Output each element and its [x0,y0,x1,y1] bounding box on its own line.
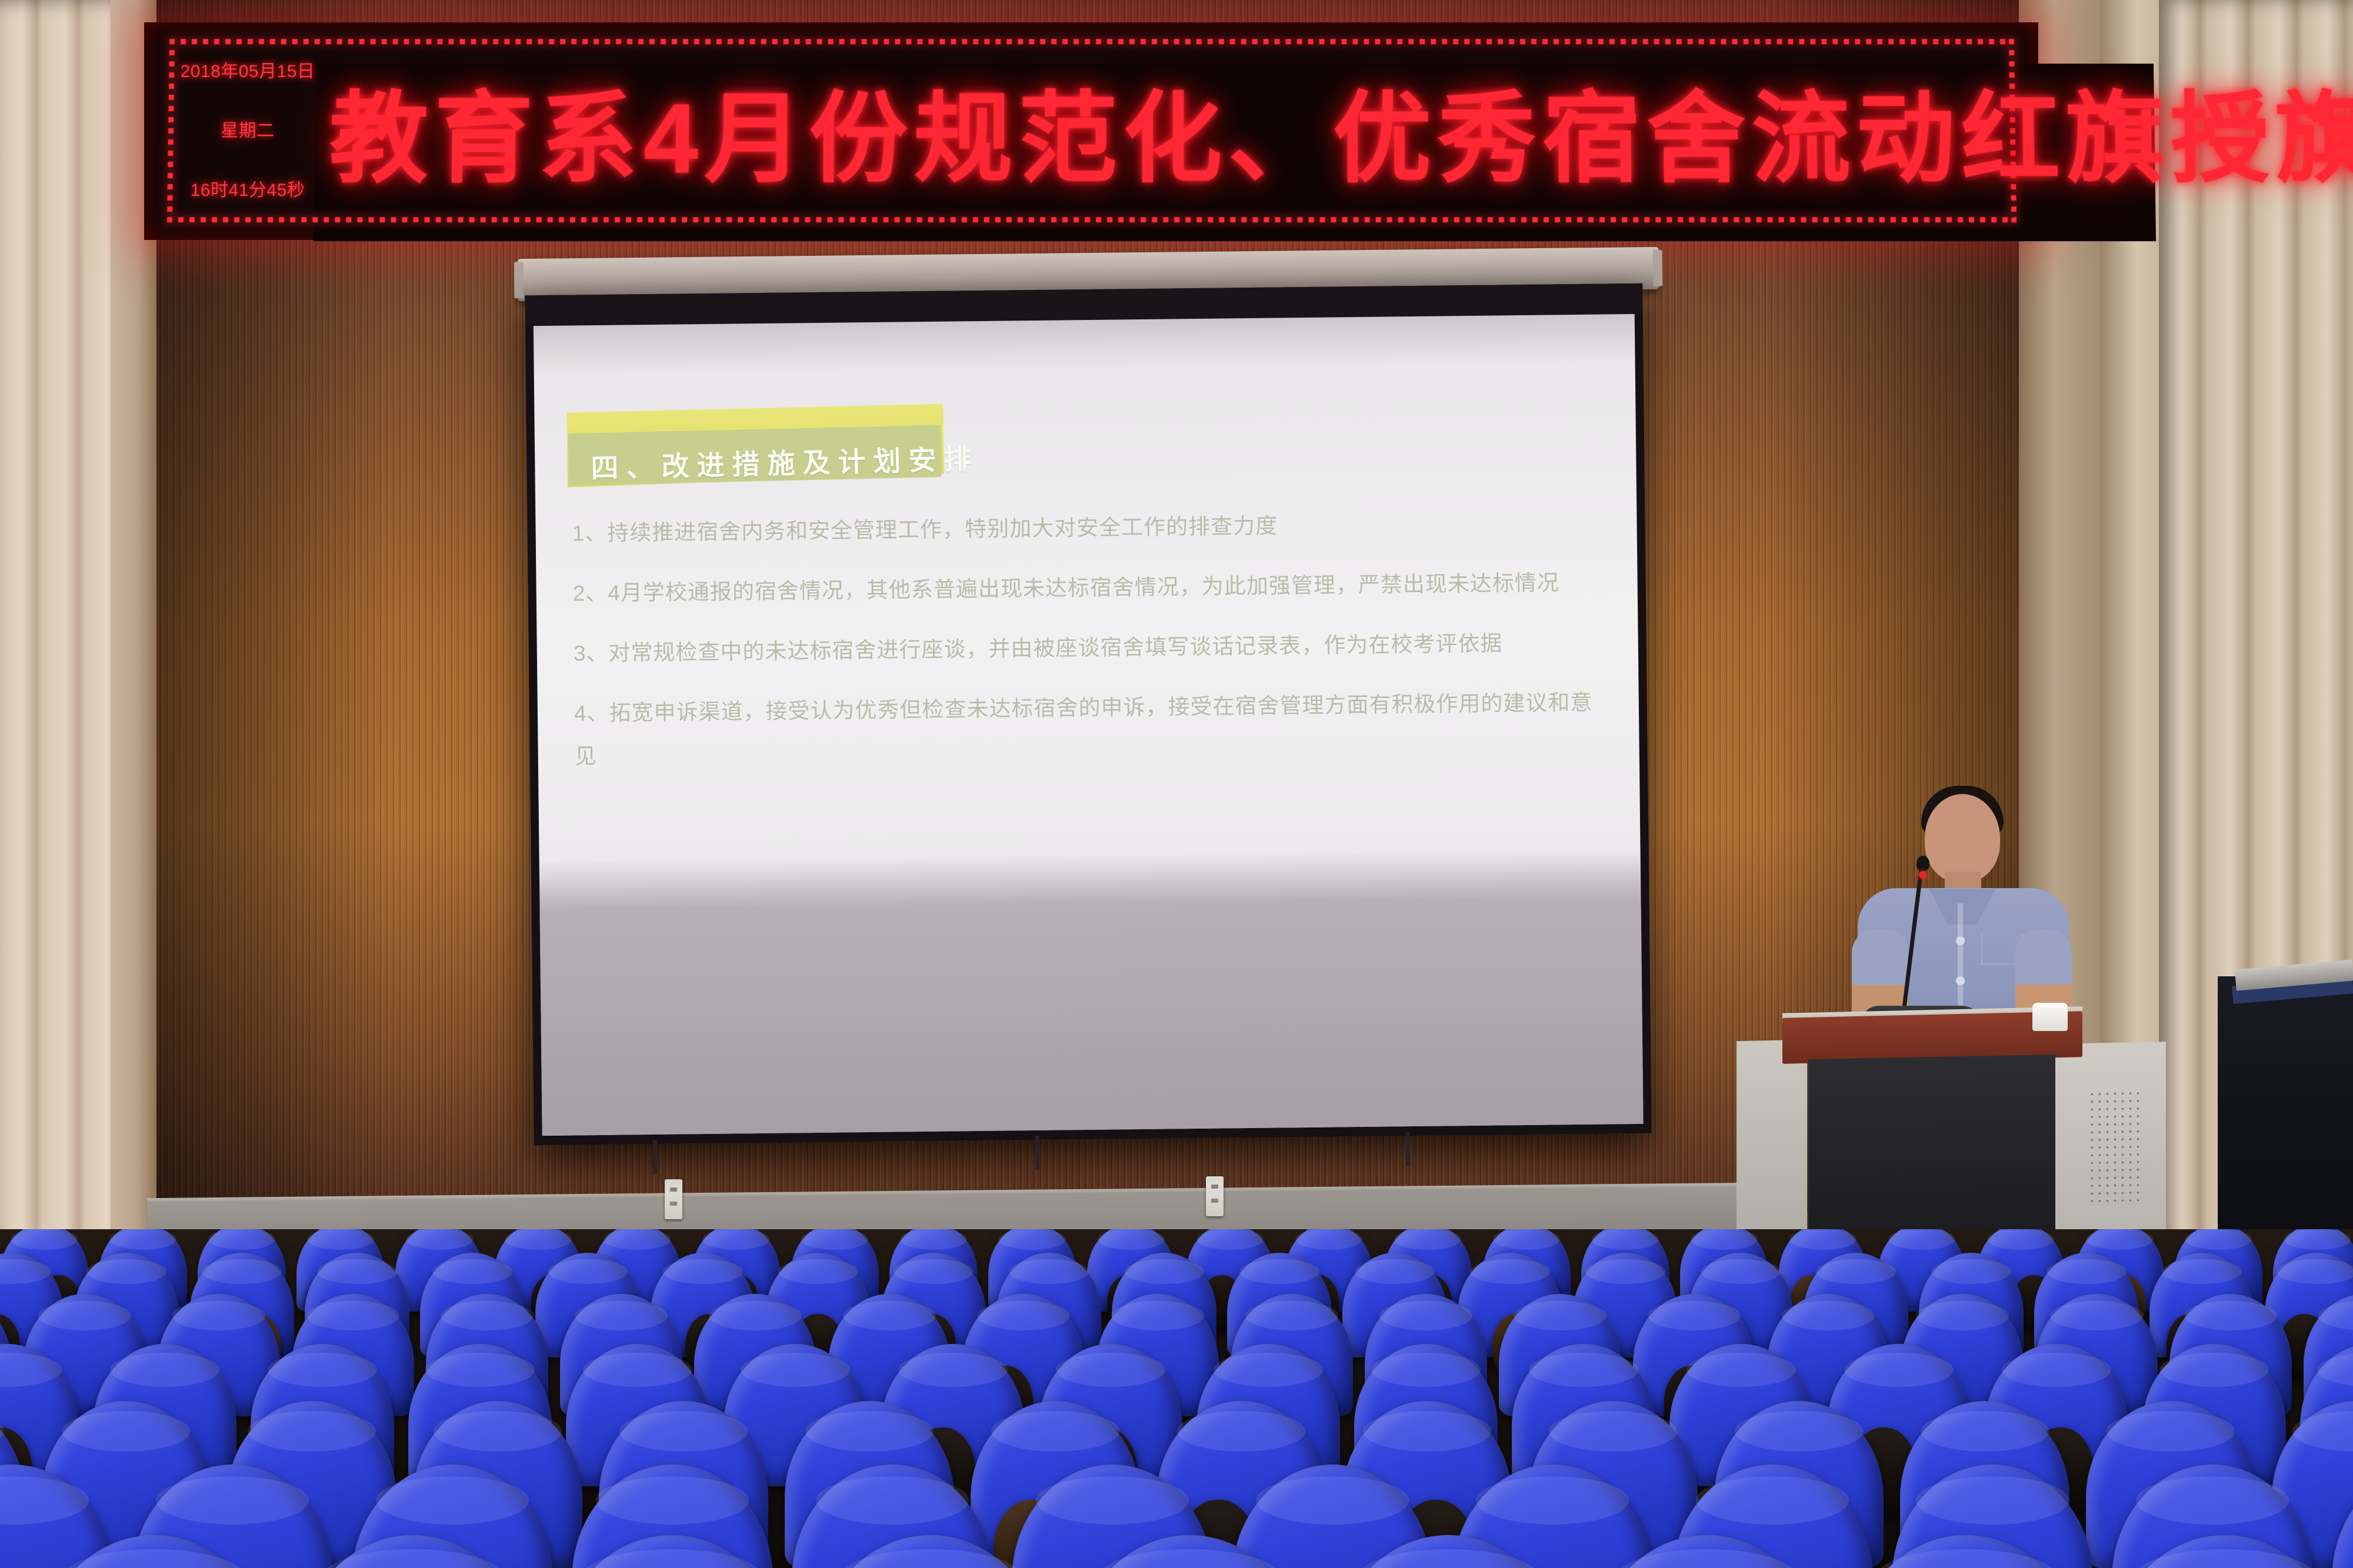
podium-front-panel [1808,1055,2055,1253]
led-clock-block: 2018年05月15日 星期二 16时41分45秒 [180,51,315,209]
slide-bullet-list: 1、持续推进宿舍内务和安全管理工作，特别加大对安全工作的排查力度 2、4月学校通… [572,502,1598,796]
led-event-title: 教育系4月份规范化、优秀宿舍流动红旗授旗仪式 [328,56,1995,203]
podium-speaker-grille [2088,1089,2145,1202]
speaker-shirt-button [1956,976,1965,985]
water-bottle [2032,1003,2068,1031]
screen-leg [1035,1136,1040,1170]
slide-bullet: 4、拓宽申诉渠道，接受认为优秀但检查未达标宿舍的申诉，接受在宿舍管理方面有积极作… [574,682,1598,778]
screen-leg [1406,1132,1411,1166]
led-weekday: 星期二 [221,116,275,142]
podium-left-wing [1737,1040,1807,1253]
microphone-head [1917,856,1929,871]
projected-slide: 四、改进措施及计划安排 1、持续推进宿舍内务和安全管理工作，特别加大对安全工作的… [534,314,1644,1136]
slide-bullet: 3、对常规检查中的未达标宿舍进行座谈，并由被座谈宿舍填写谈话记录表，作为在校考评… [573,622,1597,675]
roller-cap-left [514,262,524,298]
speaker-head [1925,794,2000,882]
screen-leg [653,1140,658,1174]
projection-screen: 四、改进措施及计划安排 1、持续推进宿舍内务和安全管理工作，特别加大对安全工作的… [525,283,1652,1145]
led-date: 2018年05月15日 [181,56,315,82]
slide-bullet: 1、持续推进宿舍内务和安全管理工作，特别加大对安全工作的排查力度 [572,502,1596,555]
auditorium-scene: 2018年05月15日 星期二 16时41分45秒 教育系4月份规范化、优秀宿舍… [0,0,2353,1568]
roller-cap-right [1653,250,1663,286]
wall-socket [1206,1176,1224,1216]
wall-socket [665,1179,682,1219]
slide-lower-band [540,897,1644,1136]
speaker-shirt-button [1956,936,1965,945]
microphone-status-led [1919,871,1927,879]
audience-seating [0,1229,2353,1568]
led-time: 16时41分45秒 [191,175,305,201]
slide-bullet: 2、4月学校通报的宿舍情况，其他系普遍出现未达标宿舍情况，为此加强管理，严禁出现… [572,562,1597,615]
